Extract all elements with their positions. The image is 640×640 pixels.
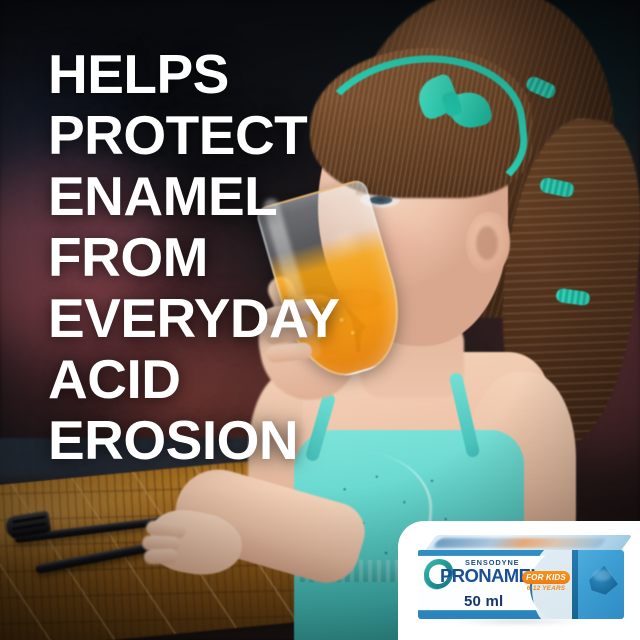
triangle-gloss bbox=[593, 570, 611, 581]
headline-line-1: HELPS bbox=[48, 44, 340, 105]
headline-line-2: PROTECT bbox=[48, 105, 340, 166]
volume-label: 50 ml bbox=[464, 593, 503, 610]
for-kids-badge: FOR KIDS bbox=[522, 571, 570, 584]
age-range-label: 6-12 YEARS bbox=[522, 585, 570, 592]
for-kids-label: FOR KIDS bbox=[522, 571, 570, 584]
headline-line-3: ENAMEL bbox=[48, 166, 340, 227]
box-top-branding-blur bbox=[432, 538, 607, 548]
advertisement: HELPS PROTECT ENAMEL FROM EVERYDAY ACID … bbox=[0, 0, 640, 640]
product-box[interactable]: SENSODYNE PRONAMEL FOR KIDS 6-12 YEARS 5… bbox=[418, 535, 620, 619]
headline-line-6: ACID bbox=[48, 349, 340, 410]
headline-line-4: FROM bbox=[48, 227, 340, 288]
product-panel: SENSODYNE PRONAMEL FOR KIDS 6-12 YEARS 5… bbox=[398, 521, 640, 640]
headline-line-7: EROSION bbox=[48, 410, 340, 471]
headline: HELPS PROTECT ENAMEL FROM EVERYDAY ACID … bbox=[48, 44, 340, 471]
headline-line-5: EVERYDAY bbox=[48, 288, 340, 349]
